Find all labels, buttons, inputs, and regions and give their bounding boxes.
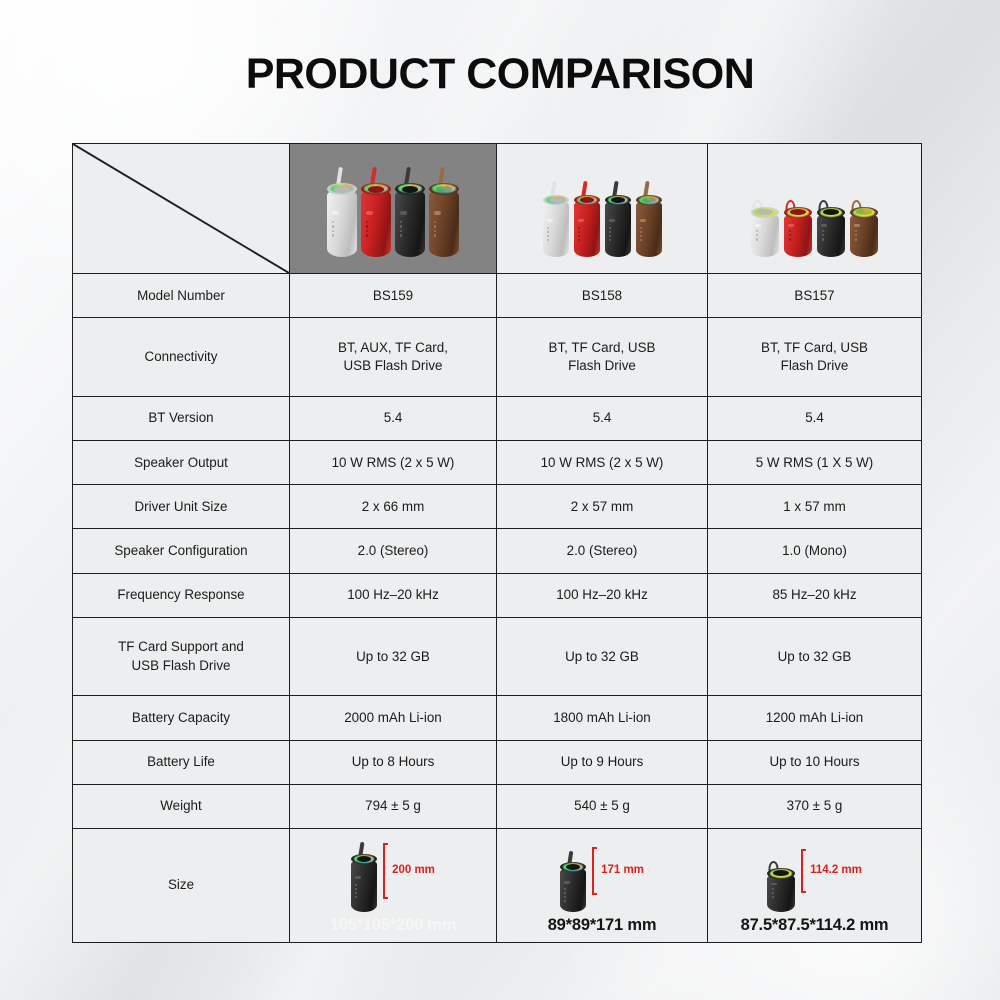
size-cell-bs157: 114.2 mm 87.5*87.5*114.2 mm xyxy=(708,829,922,943)
speaker-button-dot-icon xyxy=(332,234,334,236)
speaker-control-buttons xyxy=(609,227,611,241)
speaker-brand-plate xyxy=(434,211,441,215)
size-speaker-illustration-bs158 xyxy=(560,842,586,912)
speaker-top-inset xyxy=(757,209,773,215)
speaker-top-inset xyxy=(357,856,371,862)
speaker-button-dot-icon xyxy=(609,227,611,229)
table-row: Speaker Configuration2.0 (Stereo)2.0 (St… xyxy=(73,529,922,573)
speaker-button-dot-icon xyxy=(355,884,357,886)
speaker-brand-plate xyxy=(578,219,584,222)
speaker-control-buttons xyxy=(640,227,642,241)
size-dimension-bs157: 114.2 mm xyxy=(801,849,862,897)
speaker-button-dot-icon xyxy=(789,230,791,232)
cell-bs157: 5 W RMS (1 X 5 W) xyxy=(708,441,922,485)
row-label: Speaker Configuration xyxy=(73,529,290,573)
speaker-top-inset xyxy=(856,209,872,215)
cell-bs158: BS158 xyxy=(497,274,708,318)
speaker-white-icon xyxy=(543,195,569,257)
size-caption-bs158: 89*89*171 mm xyxy=(548,914,657,936)
cell-bs159: 5.4 xyxy=(290,396,497,440)
product-image-group-bs157 xyxy=(708,144,921,273)
cell-bs159: 10 W RMS (2 x 5 W) xyxy=(290,441,497,485)
speaker-brand-plate xyxy=(547,219,553,222)
speaker-control-buttons xyxy=(547,227,549,241)
cell-bs158: 2 x 57 mm xyxy=(497,485,708,529)
diagonal-divider-icon xyxy=(73,144,289,273)
speaker-brand-plate xyxy=(609,219,615,222)
speaker-button-dot-icon xyxy=(564,900,566,902)
speaker-black-icon xyxy=(351,854,377,912)
table-row: ConnectivityBT, AUX, TF Card,USB Flash D… xyxy=(73,318,922,397)
cell-bs158: Up to 9 Hours xyxy=(497,740,708,784)
speaker-button-dot-icon xyxy=(640,227,642,229)
speaker-button-dot-icon xyxy=(772,892,774,894)
speaker-white-icon xyxy=(751,207,779,257)
speaker-button-dot-icon xyxy=(355,896,357,898)
speaker-brand-plate xyxy=(366,211,373,215)
table-row: Battery Capacity2000 mAh Li-ion1800 mAh … xyxy=(73,696,922,740)
speaker-top-inset xyxy=(334,186,350,193)
speaker-control-buttons xyxy=(756,230,758,241)
size-bracket-icon xyxy=(383,843,388,899)
speaker-button-dot-icon xyxy=(564,888,566,890)
cell-bs157: Up to 10 Hours xyxy=(708,740,922,784)
cell-bs158: 2.0 (Stereo) xyxy=(497,529,708,573)
cell-bs157: 370 ± 5 g xyxy=(708,784,922,828)
speaker-button-dot-icon xyxy=(434,225,436,227)
speaker-brand-plate xyxy=(821,224,827,227)
size-caption-bs157: 87.5*87.5*114.2 mm xyxy=(741,914,889,936)
speaker-button-dot-icon xyxy=(578,235,580,237)
size-speaker-illustration-bs159 xyxy=(351,842,377,912)
row-label: TF Card Support andUSB Flash Drive xyxy=(73,617,290,696)
speaker-button-dot-icon xyxy=(855,234,857,236)
speaker-top-inset xyxy=(436,186,452,193)
size-stage-bs158: 171 mm xyxy=(560,834,644,912)
speaker-black-icon xyxy=(560,862,586,912)
speaker-top-inset xyxy=(566,864,580,870)
speaker-button-dot-icon xyxy=(355,888,357,890)
speaker-control-buttons xyxy=(855,230,857,241)
speaker-top-inset xyxy=(642,197,656,203)
size-figure-bs159: 200 mm 105*105*200 mm xyxy=(290,829,496,942)
size-dimension-bs159: 200 mm xyxy=(383,843,435,903)
speaker-brand-plate xyxy=(854,224,860,227)
table-row: Model NumberBS159BS158BS157 xyxy=(73,274,922,318)
comparison-table: Model NumberBS159BS158BS157ConnectivityB… xyxy=(72,143,922,943)
product-image-cell-bs159 xyxy=(290,144,497,274)
table-row: Battery LifeUp to 8 HoursUp to 9 HoursUp… xyxy=(73,740,922,784)
row-label: Model Number xyxy=(73,274,290,318)
speaker-button-dot-icon xyxy=(756,234,758,236)
row-label: Battery Life xyxy=(73,740,290,784)
speaker-button-dot-icon xyxy=(578,227,580,229)
cell-bs159: Up to 8 Hours xyxy=(290,740,497,784)
speaker-button-dot-icon xyxy=(366,225,368,227)
size-height-label-bs159: 200 mm xyxy=(392,863,435,879)
product-image-cell-bs157 xyxy=(708,144,922,274)
speaker-button-dot-icon xyxy=(789,238,791,240)
cell-bs157: 5.4 xyxy=(708,396,922,440)
product-image-group-bs159 xyxy=(290,144,496,273)
speaker-control-buttons xyxy=(332,221,334,237)
speaker-button-dot-icon xyxy=(640,239,642,241)
speaker-brand-plate xyxy=(355,876,361,879)
size-figure-bs158: 171 mm 89*89*171 mm xyxy=(497,829,707,942)
row-label-size: Size xyxy=(73,829,290,943)
speaker-top-inset xyxy=(368,186,384,193)
size-cell-bs158: 171 mm 89*89*171 mm xyxy=(497,829,708,943)
cell-bs158: BT, TF Card, USBFlash Drive xyxy=(497,318,708,397)
speaker-button-dot-icon xyxy=(332,221,334,223)
speaker-top-inset xyxy=(611,197,625,203)
speaker-top-inset xyxy=(823,209,839,215)
speaker-button-dot-icon xyxy=(332,225,334,227)
speaker-brand-plate xyxy=(788,224,794,227)
cell-bs159: 2 x 66 mm xyxy=(290,485,497,529)
speaker-black-icon xyxy=(395,183,425,257)
speaker-button-dot-icon xyxy=(772,896,774,898)
cell-bs159: Up to 32 GB xyxy=(290,617,497,696)
speaker-button-dot-icon xyxy=(400,230,402,232)
speaker-button-dot-icon xyxy=(822,234,824,236)
speaker-control-buttons xyxy=(578,227,580,241)
cell-bs157: 1.0 (Mono) xyxy=(708,529,922,573)
speaker-brand-plate xyxy=(400,211,407,215)
speaker-control-buttons xyxy=(772,888,774,899)
speaker-brand-plate xyxy=(771,883,777,885)
table-header-row xyxy=(73,144,922,274)
table-row: TF Card Support andUSB Flash DriveUp to … xyxy=(73,617,922,696)
speaker-control-buttons xyxy=(434,221,436,237)
row-label: Battery Capacity xyxy=(73,696,290,740)
table-row-size: Size 200 mm 105*105*200 mm xyxy=(73,829,922,943)
cell-bs158: Up to 32 GB xyxy=(497,617,708,696)
speaker-button-dot-icon xyxy=(855,230,857,232)
speaker-black-icon xyxy=(767,868,795,912)
speaker-button-dot-icon xyxy=(822,238,824,240)
product-image-cell-bs158 xyxy=(497,144,708,274)
table-row: Speaker Output10 W RMS (2 x 5 W)10 W RMS… xyxy=(73,441,922,485)
size-bracket-icon xyxy=(801,849,806,893)
speaker-button-dot-icon xyxy=(609,235,611,237)
speaker-button-dot-icon xyxy=(756,238,758,240)
speaker-brand-plate xyxy=(332,211,339,215)
table-row: Frequency Response100 Hz–20 kHz100 Hz–20… xyxy=(73,573,922,617)
speaker-control-buttons xyxy=(366,221,368,237)
speaker-button-dot-icon xyxy=(366,230,368,232)
speaker-button-dot-icon xyxy=(609,239,611,241)
speaker-white-icon xyxy=(327,183,357,257)
size-dimension-bs158: 171 mm xyxy=(592,847,644,899)
speaker-button-dot-icon xyxy=(640,235,642,237)
page-title: PRODUCT COMPARISON xyxy=(0,50,1000,99)
cell-bs157: 1200 mAh Li-ion xyxy=(708,696,922,740)
row-label: Driver Unit Size xyxy=(73,485,290,529)
speaker-button-dot-icon xyxy=(564,896,566,898)
speaker-brown-icon xyxy=(429,183,459,257)
speaker-control-buttons xyxy=(400,221,402,237)
speaker-red-icon xyxy=(784,207,812,257)
cell-bs158: 10 W RMS (2 x 5 W) xyxy=(497,441,708,485)
speaker-button-dot-icon xyxy=(564,892,566,894)
row-label: Weight xyxy=(73,784,290,828)
size-stage-bs157: 114.2 mm xyxy=(767,834,862,912)
speaker-button-dot-icon xyxy=(640,231,642,233)
speaker-button-dot-icon xyxy=(547,231,549,233)
row-label: Connectivity xyxy=(73,318,290,397)
speaker-button-dot-icon xyxy=(578,231,580,233)
speaker-control-buttons xyxy=(789,230,791,241)
speaker-brown-icon xyxy=(850,207,878,257)
speaker-button-dot-icon xyxy=(547,227,549,229)
speaker-top-inset xyxy=(773,870,789,876)
speaker-control-buttons xyxy=(355,884,357,898)
speaker-brown-icon xyxy=(636,195,662,257)
speaker-button-dot-icon xyxy=(434,221,436,223)
row-label: Frequency Response xyxy=(73,573,290,617)
speaker-red-icon xyxy=(361,183,391,257)
speaker-button-dot-icon xyxy=(400,221,402,223)
speaker-button-dot-icon xyxy=(789,234,791,236)
table-row: BT Version5.45.45.4 xyxy=(73,396,922,440)
cell-bs158: 540 ± 5 g xyxy=(497,784,708,828)
cell-bs157: BT, TF Card, USBFlash Drive xyxy=(708,318,922,397)
speaker-button-dot-icon xyxy=(609,231,611,233)
cell-bs157: 1 x 57 mm xyxy=(708,485,922,529)
speaker-brand-plate xyxy=(755,224,761,227)
speaker-button-dot-icon xyxy=(366,221,368,223)
cell-bs159: BT, AUX, TF Card,USB Flash Drive xyxy=(290,318,497,397)
speaker-button-dot-icon xyxy=(855,238,857,240)
speaker-control-buttons xyxy=(822,230,824,241)
comparison-table-container: Model NumberBS159BS158BS157ConnectivityB… xyxy=(72,143,921,943)
cell-bs157: BS157 xyxy=(708,274,922,318)
cell-bs157: 85 Hz–20 kHz xyxy=(708,573,922,617)
size-speaker-illustration-bs157 xyxy=(767,842,795,912)
speaker-brand-plate xyxy=(640,219,646,222)
comparison-table-body: Model NumberBS159BS158BS157ConnectivityB… xyxy=(73,144,922,943)
cell-bs158: 5.4 xyxy=(497,396,708,440)
speaker-black-icon xyxy=(817,207,845,257)
row-label: BT Version xyxy=(73,396,290,440)
diagonal-header-cell xyxy=(73,144,290,274)
size-figure-bs157: 114.2 mm 87.5*87.5*114.2 mm xyxy=(708,829,921,942)
cell-bs159: 794 ± 5 g xyxy=(290,784,497,828)
speaker-top-inset xyxy=(549,197,563,203)
size-cell-bs159: 200 mm 105*105*200 mm xyxy=(290,829,497,943)
cell-bs158: 100 Hz–20 kHz xyxy=(497,573,708,617)
speaker-top-inset xyxy=(580,197,594,203)
speaker-button-dot-icon xyxy=(434,230,436,232)
speaker-button-dot-icon xyxy=(578,239,580,241)
speaker-button-dot-icon xyxy=(434,234,436,236)
product-image-group-bs158 xyxy=(497,144,707,273)
size-bracket-icon xyxy=(592,847,597,895)
speaker-button-dot-icon xyxy=(366,234,368,236)
cell-bs157: Up to 32 GB xyxy=(708,617,922,696)
speaker-button-dot-icon xyxy=(547,235,549,237)
speaker-button-dot-icon xyxy=(547,239,549,241)
size-stage-bs159: 200 mm xyxy=(351,834,435,912)
speaker-button-dot-icon xyxy=(355,892,357,894)
speaker-red-icon xyxy=(574,195,600,257)
speaker-button-dot-icon xyxy=(756,230,758,232)
row-label: Speaker Output xyxy=(73,441,290,485)
speaker-button-dot-icon xyxy=(332,230,334,232)
speaker-button-dot-icon xyxy=(772,888,774,890)
speaker-button-dot-icon xyxy=(400,225,402,227)
size-caption-bs159: 105*105*200 mm xyxy=(330,914,457,936)
table-row: Driver Unit Size2 x 66 mm2 x 57 mm1 x 57… xyxy=(73,485,922,529)
size-height-label-bs157: 114.2 mm xyxy=(810,863,862,879)
speaker-button-dot-icon xyxy=(822,230,824,232)
speaker-black-icon xyxy=(605,195,631,257)
speaker-top-inset xyxy=(790,209,806,215)
speaker-brand-plate xyxy=(564,881,570,884)
speaker-top-inset xyxy=(402,186,418,193)
table-row: Weight794 ± 5 g540 ± 5 g370 ± 5 g xyxy=(73,784,922,828)
speaker-control-buttons xyxy=(564,888,566,902)
cell-bs159: 2000 mAh Li-ion xyxy=(290,696,497,740)
cell-bs158: 1800 mAh Li-ion xyxy=(497,696,708,740)
speaker-button-dot-icon xyxy=(400,234,402,236)
cell-bs159: 100 Hz–20 kHz xyxy=(290,573,497,617)
size-height-label-bs158: 171 mm xyxy=(601,863,644,879)
cell-bs159: 2.0 (Stereo) xyxy=(290,529,497,573)
cell-bs159: BS159 xyxy=(290,274,497,318)
